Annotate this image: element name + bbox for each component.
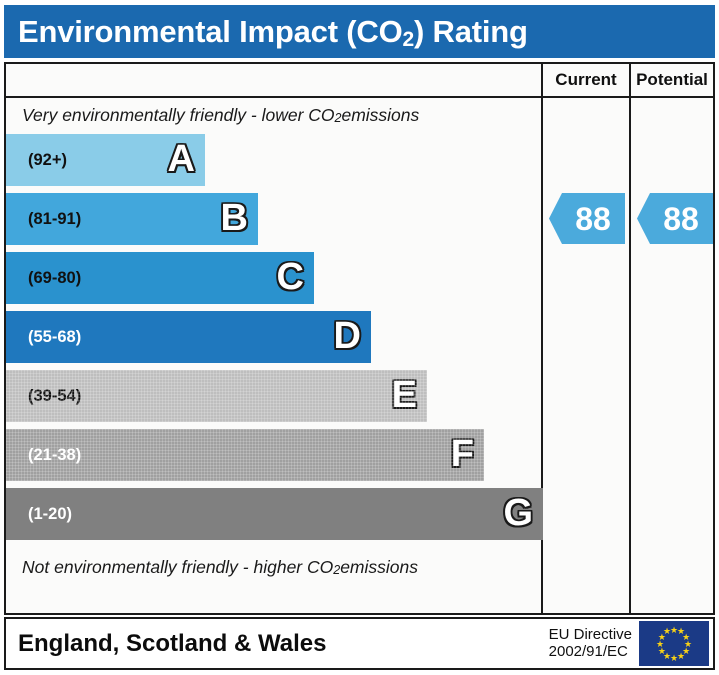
footer-region-label: England, Scotland & Wales [6,630,326,658]
rating-table: Current Potential Very environmentally f… [4,62,715,615]
band-range-label-a: (92+) [6,152,67,169]
band-letter-g: G [503,494,533,532]
caption-top-subscript: 2 [335,111,342,125]
column-header-row: Current Potential [6,64,713,98]
rating-band-a: (92+)A [6,134,205,186]
caption-bottom: Not environmentally friendly - higher CO… [6,550,541,584]
band-letter-b: B [221,199,248,237]
band-letter-f: F [451,435,474,473]
band-letter-e: E [392,376,417,414]
rating-value-potential: 88 [651,203,699,235]
band-letter-d: D [334,317,361,355]
title-subscript: 2 [403,28,414,51]
rating-value-current: 88 [563,203,611,235]
rating-band-c: (69-80)C [6,252,314,304]
band-letter-c: C [277,258,304,296]
band-range-label-e: (39-54) [6,388,81,405]
rating-band-f: (21-38)F [6,429,484,481]
eu-directive-line2: 2002/91/EC [549,644,632,661]
epc-environmental-impact-certificate: Environmental Impact (CO2) Rating Curren… [0,0,719,675]
chart-header-banner: Environmental Impact (CO2) Rating [4,5,715,58]
column-header-current: Current [543,64,629,96]
rating-band-d: (55-68)D [6,311,371,363]
eu-flag-icon [639,621,709,666]
rating-band-b: (81-91)B [6,193,258,245]
rating-arrow-current: 88 [549,193,625,244]
page-title: Environmental Impact (CO2) Rating [4,16,528,47]
certificate-footer: England, Scotland & Wales EU Directive 2… [4,617,715,670]
rating-band-e: (39-54)E [6,370,427,422]
eu-directive-line1: EU Directive [549,627,632,644]
column-header-potential: Potential [631,64,713,96]
rating-arrow-potential: 88 [637,193,713,244]
rating-band-g: (1-20)G [6,488,543,540]
band-range-label-b: (81-91) [6,211,81,228]
band-range-label-f: (21-38) [6,447,81,464]
band-range-label-c: (69-80) [6,270,81,287]
caption-bottom-subscript: 2 [333,563,340,577]
band-range-label-g: (1-20) [6,506,72,523]
eu-directive-text: EU Directive 2002/91/EC [549,627,632,661]
column-divider-potential [629,64,631,613]
caption-top: Very environmentally friendly - lower CO… [6,98,541,132]
band-letter-a: A [168,140,195,178]
band-range-label-d: (55-68) [6,329,81,346]
rating-chart: Very environmentally friendly - lower CO… [6,98,541,613]
rating-bars: (92+)A(81-91)B(69-80)C(55-68)D(39-54)E(2… [6,134,541,550]
footer-directive-group: EU Directive 2002/91/EC [549,622,709,665]
